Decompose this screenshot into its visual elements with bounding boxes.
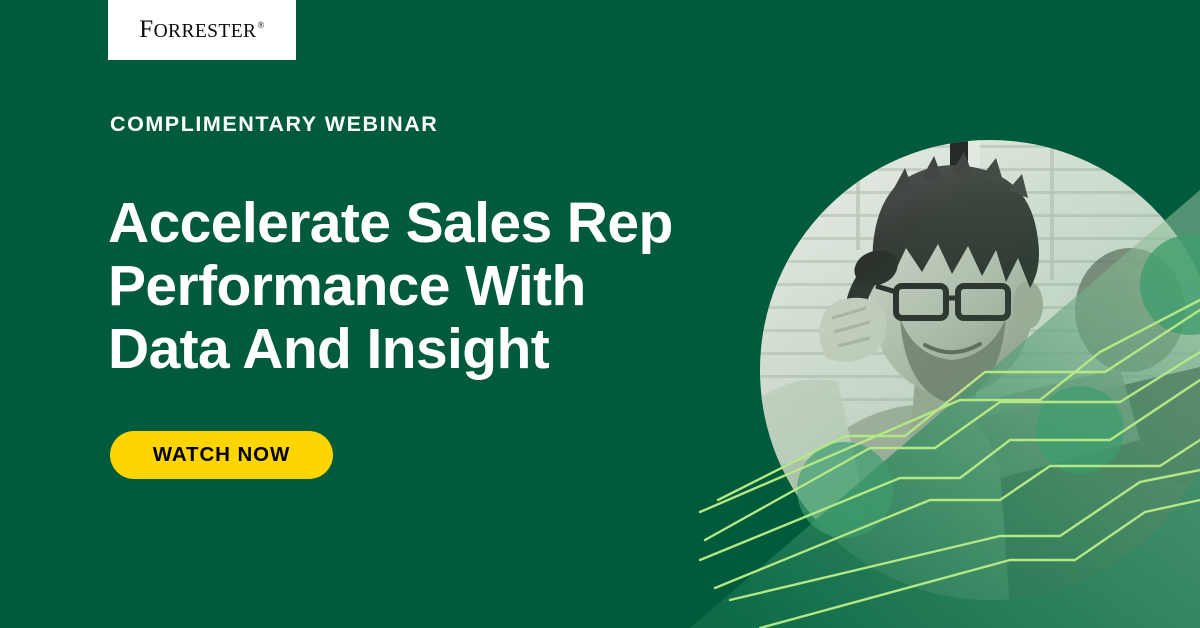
blinds-slats: [760, 145, 1200, 401]
headline-line-2: Performance With: [108, 255, 673, 318]
logo-first-letter: F: [139, 16, 153, 43]
hero-photo: [760, 130, 1200, 610]
headline-line-3: Data And Insight: [108, 318, 673, 381]
webinar-promo-banner: FORRESTER® COMPLIMENTARY WEBINAR Acceler…: [0, 0, 1200, 628]
registered-mark-icon: ®: [257, 20, 264, 30]
page-title: Accelerate Sales Rep Performance With Da…: [108, 192, 673, 381]
eyeglasses: [876, 286, 1008, 318]
forrester-logo[interactable]: FORRESTER®: [108, 0, 296, 60]
forrester-logo-text: FORRESTER®: [139, 16, 264, 44]
eyebrow-label: COMPLIMENTARY WEBINAR: [110, 112, 438, 137]
accent-circle-middle: [1036, 386, 1124, 474]
accent-circle-top-right: [1140, 235, 1200, 335]
data-line-graphics: [700, 300, 1200, 628]
diagonal-gradient-band: [690, 190, 1200, 628]
watch-now-button[interactable]: WATCH NOW: [110, 431, 333, 479]
accent-circle-lower-left: [797, 442, 893, 538]
logo-rest: ORRESTER: [154, 21, 257, 42]
headline-line-1: Accelerate Sales Rep: [108, 192, 673, 255]
